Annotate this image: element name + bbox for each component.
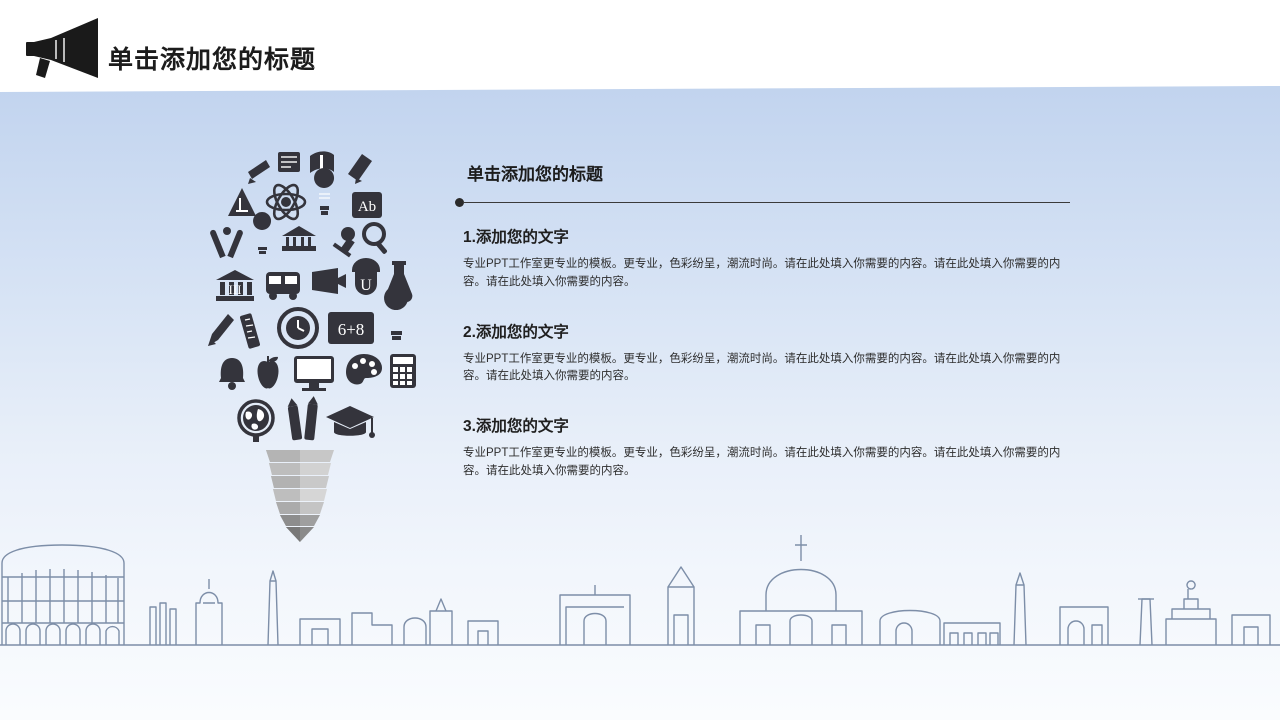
svg-text:Ab: Ab xyxy=(358,199,376,215)
item-body-1: 专业PPT工作室更专业的模板。更专业，色彩纷呈，潮流时尚。请在此处填入你需要的内… xyxy=(463,256,1063,292)
item-title-1: 1.添加您的文字 xyxy=(463,225,1080,247)
list-item: 1.添加您的文字 专业PPT工作室更专业的模板。更专业，色彩纷呈，潮流时尚。请在… xyxy=(455,225,1080,292)
slide: 单击添加您的标题 xyxy=(0,0,1280,720)
divider xyxy=(455,197,1080,209)
item-title-2: 2.添加您的文字 xyxy=(463,320,1080,342)
city-skyline-icon xyxy=(0,515,1280,680)
svg-text:U: U xyxy=(360,277,372,294)
item-body-2: 专业PPT工作室更专业的模板。更专业，色彩纷呈，潮流时尚。请在此处填入你需要的内… xyxy=(463,351,1063,387)
divider-line xyxy=(463,202,1070,203)
svg-text:6+8: 6+8 xyxy=(338,320,365,339)
lightbulb-graphic: Ab xyxy=(170,150,430,550)
lightbulb-icon-cluster: Ab xyxy=(170,150,430,550)
page-title: 单击添加您的标题 xyxy=(108,40,316,76)
item-title-3: 3.添加您的文字 xyxy=(463,414,1080,436)
content-panel: 单击添加您的标题 1.添加您的文字 专业PPT工作室更专业的模板。更专业，色彩纷… xyxy=(455,160,1080,509)
list-item: 2.添加您的文字 专业PPT工作室更专业的模板。更专业，色彩纷呈，潮流时尚。请在… xyxy=(455,320,1080,387)
megaphone-icon xyxy=(20,16,102,82)
slide-header: 单击添加您的标题 xyxy=(0,0,1280,95)
content-title: 单击添加您的标题 xyxy=(467,160,1080,185)
svg-text:III: III xyxy=(229,282,242,297)
list-item: 3.添加您的文字 专业PPT工作室更专业的模板。更专业，色彩纷呈，潮流时尚。请在… xyxy=(455,414,1080,481)
item-body-3: 专业PPT工作室更专业的模板。更专业，色彩纷呈，潮流时尚。请在此处填入你需要的内… xyxy=(463,445,1063,481)
